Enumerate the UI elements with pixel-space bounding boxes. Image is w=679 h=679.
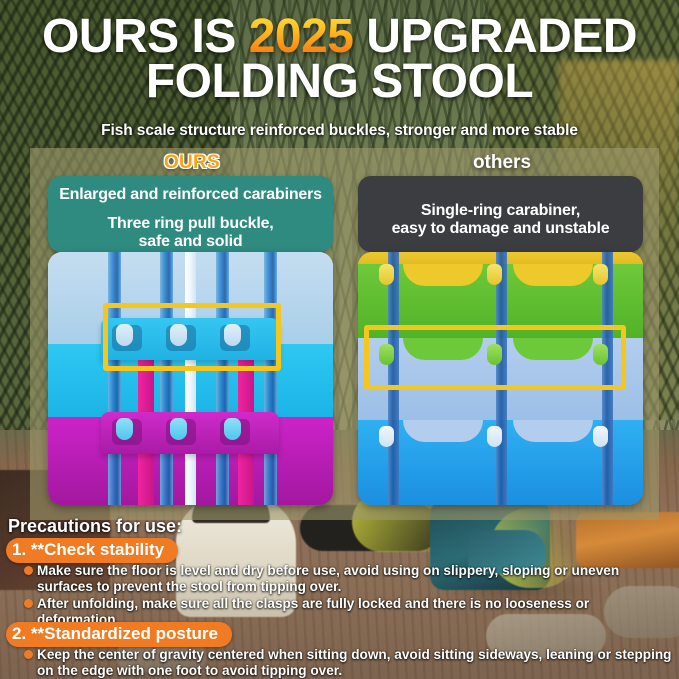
precaution-2-bullet-1: Keep the center of gravity centered when… bbox=[37, 647, 675, 679]
caption-card-others: Single-ring carabiner, easy to damage an… bbox=[358, 176, 643, 252]
bullet-icon bbox=[24, 599, 33, 608]
stool-notch bbox=[513, 264, 593, 286]
caption-ours-line-2: Three ring pull buckle, safe and solid bbox=[56, 215, 325, 251]
stool-hook-ours bbox=[170, 418, 187, 440]
stool-hook-others bbox=[487, 264, 502, 285]
highlight-box-ours bbox=[103, 303, 281, 371]
stool-rail bbox=[264, 252, 277, 505]
column-label-others: others bbox=[358, 153, 646, 173]
stool-hook-others bbox=[379, 426, 394, 447]
stool-notch bbox=[513, 420, 593, 442]
background-log bbox=[576, 512, 679, 568]
stool-hook-others bbox=[593, 426, 608, 447]
title-year: 2025 bbox=[249, 10, 354, 63]
caption-card-ours: Enlarged and reinforced carabiners Three… bbox=[48, 176, 333, 252]
stool-hook-ours bbox=[224, 418, 241, 440]
stool-rail bbox=[216, 252, 229, 505]
stool-notch bbox=[403, 420, 483, 442]
stool-notch bbox=[403, 264, 483, 286]
stool-hook-ours bbox=[116, 418, 133, 440]
stool-rail bbox=[108, 252, 121, 505]
stool-rail bbox=[160, 252, 173, 505]
caption-ours-line-2a: Three ring pull buckle, bbox=[107, 215, 273, 232]
precaution-1-bullet-1: Make sure the floor is level and dry bef… bbox=[37, 563, 675, 595]
precautions-title: Precautions for use: bbox=[8, 516, 182, 537]
bullet-icon bbox=[24, 650, 33, 659]
caption-others-text: Single-ring carabiner, easy to damage an… bbox=[366, 202, 635, 238]
title-line-2: FOLDING STOOL bbox=[0, 59, 679, 104]
stool-hook-others bbox=[593, 264, 608, 285]
product-infographic: OURS IS 2025 UPGRADED FOLDING STOOL Fish… bbox=[0, 0, 679, 679]
bullet-icon bbox=[24, 566, 33, 575]
caption-ours-line-2b: safe and solid bbox=[139, 233, 243, 250]
stool-hook-others bbox=[487, 426, 502, 447]
stool-rail-white bbox=[185, 252, 196, 505]
caption-ours-line-1: Enlarged and reinforced carabiners bbox=[56, 185, 325, 204]
stool-hook-others bbox=[379, 264, 394, 285]
highlight-box-others bbox=[364, 325, 626, 390]
column-label-ours: OURS bbox=[48, 153, 336, 173]
precaution-badge-2: 2. **Standardized posture bbox=[6, 622, 232, 647]
product-photo-ours bbox=[48, 252, 333, 505]
page-subtitle: Fish scale structure reinforced buckles,… bbox=[0, 122, 679, 140]
page-title: OURS IS 2025 UPGRADED FOLDING STOOL bbox=[0, 14, 679, 104]
caption-others-line-1: Single-ring carabiner, bbox=[421, 202, 580, 219]
caption-others-line-2: easy to damage and unstable bbox=[392, 220, 610, 237]
precaution-badge-1: 1. **Check stability bbox=[6, 538, 178, 563]
